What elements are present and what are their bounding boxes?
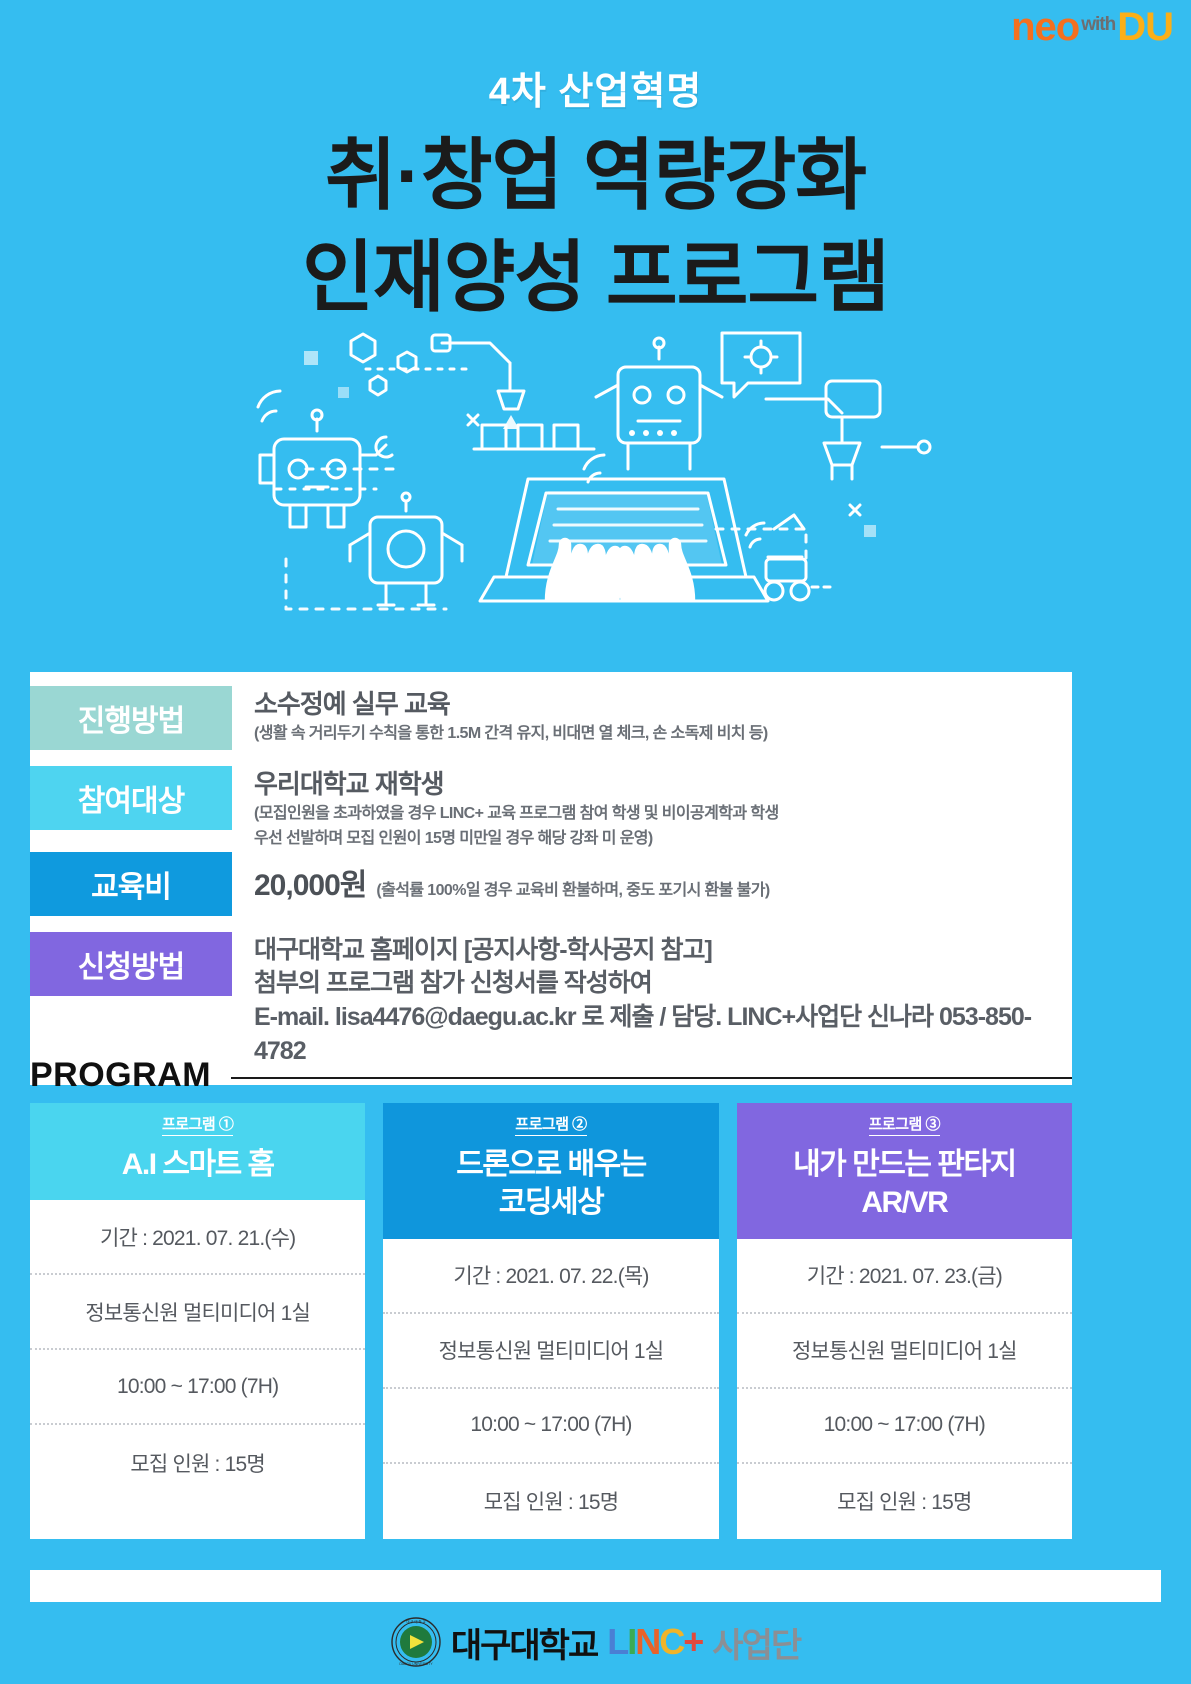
program-card-3-period: 기간 : 2021. 07. 23.(금): [737, 1239, 1072, 1314]
info-body-target: 우리대학교 재학생 (모집인원을 초과하였을 경우 LINC+ 교육 프로그램 …: [232, 766, 779, 852]
fee-note: (출석률 100%일 경우 교육비 환불하며, 중도 포기시 환불 불가): [376, 876, 769, 900]
brand-logo: neo with DU: [1011, 8, 1173, 46]
program-card-3-title-line-2: AR/VR: [737, 1184, 1072, 1222]
program-card-2-period: 기간 : 2021. 07. 22.(목): [383, 1239, 718, 1314]
program-card-2-body: 기간 : 2021. 07. 22.(목) 정보통신원 멀티미디어 1실 10:…: [383, 1239, 718, 1539]
footer-department-name: 사업단: [712, 1618, 800, 1667]
footer-linc-letter-c: C: [659, 1621, 683, 1662]
program-card-2-place: 정보통신원 멀티미디어 1실: [383, 1314, 718, 1389]
program-card-1-index: 프로그램 ①: [162, 1113, 233, 1136]
program-card-2-header: 프로그램 ② 드론으로 배우는 코딩세상: [383, 1103, 718, 1239]
target-sub-line-1: (모집인원을 초과하였을 경우 LINC+ 교육 프로그램 참여 학생 및 비이…: [254, 801, 779, 827]
program-card-3[interactable]: 프로그램 ③ 내가 만드는 판타지 AR/VR 기간 : 2021. 07. 2…: [737, 1103, 1072, 1539]
program-card-3-title-line-1: 내가 만드는 판타지: [737, 1146, 1072, 1184]
program-card-2-title: 드론으로 배우는 코딩세상: [383, 1146, 718, 1223]
target-main: 우리대학교 재학생: [254, 768, 779, 801]
program-card-2-capacity: 모집 인원 : 15명: [383, 1464, 718, 1539]
program-card-2-title-line-1: 드론으로 배우는: [383, 1146, 718, 1184]
program-card-1-period: 기간 : 2021. 07. 21.(수): [30, 1200, 365, 1275]
info-body-apply: 대구대학교 홈페이지 [공지사항-학사공지 참고] 첨부의 프로그램 참가 신청…: [232, 932, 1072, 1069]
program-card-3-header: 프로그램 ③ 내가 만드는 판타지 AR/VR: [737, 1103, 1072, 1239]
program-card-list: 프로그램 ① A.I 스마트 홈 기간 : 2021. 07. 21.(수) 정…: [30, 1103, 1072, 1539]
program-card-3-time: 10:00 ~ 17:00 (7H): [737, 1389, 1072, 1464]
program-card-1-capacity: 모집 인원 : 15명: [30, 1425, 365, 1500]
info-label-progress-method: 진행방법: [30, 686, 232, 750]
program-section-header: PROGRAM: [30, 1056, 1072, 1095]
program-card-3-capacity: 모집 인원 : 15명: [737, 1464, 1072, 1539]
program-card-2[interactable]: 프로그램 ② 드론으로 배우는 코딩세상 기간 : 2021. 07. 22.(…: [383, 1103, 718, 1539]
info-label-fee: 교육비: [30, 852, 232, 916]
apply-line-2: 첨부의 프로그램 참가 신청서를 작성하여: [254, 967, 1072, 1001]
program-section-divider: [231, 1077, 1072, 1079]
brand-du-text: DU: [1117, 8, 1173, 46]
footer-linc-logo: LINC+: [607, 1621, 702, 1663]
daegu-university-seal-icon: 대 구 대 학 교 DAEGU UNIVERSITY: [391, 1617, 441, 1667]
footer-linc-letter-plus: +: [683, 1621, 702, 1662]
apply-line-1: 대구대학교 홈페이지 [공지사항-학사공지 참고]: [254, 934, 1072, 968]
brand-neo-text: neo: [1011, 8, 1079, 46]
info-row-progress-method: 진행방법 소수정예 실무 교육 (생활 속 거리두기 수칙을 통한 1.5M 간…: [30, 686, 1072, 766]
headline-line-2: 인재양성 프로그램: [0, 235, 1191, 319]
program-card-2-index: 프로그램 ②: [515, 1113, 586, 1136]
footer-logos: 대 구 대 학 교 DAEGU UNIVERSITY 대구대학교 LINC+ 사…: [0, 1600, 1191, 1684]
illustration-svg: [246, 329, 946, 629]
program-card-1-body: 기간 : 2021. 07. 21.(수) 정보통신원 멀티미디어 1실 10:…: [30, 1200, 365, 1500]
program-card-3-body: 기간 : 2021. 07. 23.(금) 정보통신원 멀티미디어 1실 10:…: [737, 1239, 1072, 1539]
progress-method-sub: (생활 속 거리두기 수칙을 통한 1.5M 간격 유지, 비대면 열 체크, …: [254, 721, 768, 747]
program-card-1-place: 정보통신원 멀티미디어 1실: [30, 1275, 365, 1350]
program-card-3-index: 프로그램 ③: [869, 1113, 940, 1136]
program-card-1-title: A.I 스마트 홈: [30, 1146, 365, 1184]
fee-amount: 20,000원: [254, 860, 366, 904]
program-card-3-title: 내가 만드는 판타지 AR/VR: [737, 1146, 1072, 1223]
program-card-1-header: 프로그램 ① A.I 스마트 홈: [30, 1103, 365, 1200]
info-label-target: 참여대상: [30, 766, 232, 830]
program-card-2-title-line-2: 코딩세상: [383, 1184, 718, 1222]
headline-line-1: 취·창업 역량강화: [0, 133, 1191, 217]
robot-automation-illustration: [0, 329, 1191, 629]
brand-with-text: with: [1081, 15, 1115, 34]
program-card-2-time: 10:00 ~ 17:00 (7H): [383, 1389, 718, 1464]
footer-linc-letter-l: L: [607, 1621, 627, 1662]
footer-university-name: 대구대학교: [451, 1618, 597, 1667]
svg-text:대 구 대 학 교: 대 구 대 학 교: [406, 1619, 425, 1624]
progress-method-main: 소수정예 실무 교육: [254, 688, 768, 721]
program-card-1[interactable]: 프로그램 ① A.I 스마트 홈 기간 : 2021. 07. 21.(수) 정…: [30, 1103, 365, 1539]
info-row-fee: 교육비 20,000원 (출석률 100%일 경우 교육비 환불하며, 중도 포…: [30, 852, 1072, 932]
info-label-apply: 신청방법: [30, 932, 232, 996]
svg-text:DAEGU UNIVERSITY: DAEGU UNIVERSITY: [399, 1662, 433, 1666]
info-row-apply: 신청방법 대구대학교 홈페이지 [공지사항-학사공지 참고] 첨부의 프로그램 …: [30, 932, 1072, 1069]
program-card-3-place: 정보통신원 멀티미디어 1실: [737, 1314, 1072, 1389]
headline-kicker: 4차 산업혁명: [0, 60, 1191, 115]
info-body-progress-method: 소수정예 실무 교육 (생활 속 거리두기 수칙을 통한 1.5M 간격 유지,…: [232, 686, 768, 746]
program-section-title: PROGRAM: [30, 1056, 211, 1095]
footer-linc-letter-n: N: [635, 1621, 659, 1662]
info-row-target: 참여대상 우리대학교 재학생 (모집인원을 초과하였을 경우 LINC+ 교육 …: [30, 766, 1072, 852]
footer-white-spacer: [30, 1570, 1161, 1602]
info-panel: 진행방법 소수정예 실무 교육 (생활 속 거리두기 수칙을 통한 1.5M 간…: [30, 672, 1072, 1085]
target-sub-line-2: 우선 선발하며 모집 인원이 15명 미만일 경우 해당 강좌 미 운영): [254, 826, 779, 852]
program-card-1-time: 10:00 ~ 17:00 (7H): [30, 1350, 365, 1425]
info-body-fee: 20,000원 (출석률 100%일 경우 교육비 환불하며, 중도 포기시 환…: [232, 852, 770, 904]
